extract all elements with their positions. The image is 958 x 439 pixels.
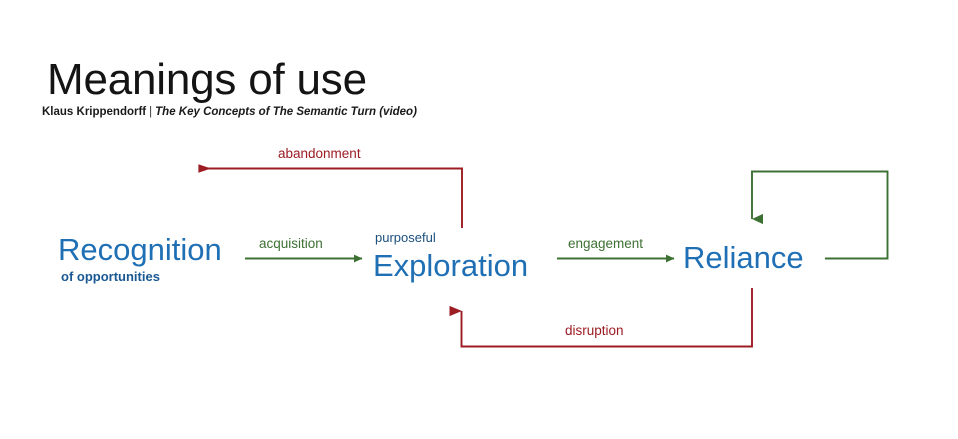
edge-label-acquisition: acquisition: [259, 236, 323, 252]
subtitle-source: The Key Concepts of The Semantic Turn (v…: [155, 106, 417, 118]
edge-label-abandonment: abandonment: [278, 146, 361, 162]
edge-label-engagement: engagement: [568, 236, 643, 252]
diagram-node-exploration: purposeful Exploration: [373, 230, 528, 284]
node-recognition-sublabel: of opportunities: [61, 269, 222, 285]
diagram-node-reliance: Reliance: [683, 240, 804, 276]
page-subtitle: Klaus Krippendorff|The Key Concepts of T…: [42, 105, 417, 119]
subtitle-author: Klaus Krippendorff: [42, 106, 146, 118]
node-exploration-kicker: purposeful: [375, 230, 528, 246]
subtitle-separator: |: [146, 106, 155, 118]
edge-abandonment: [199, 169, 462, 229]
node-reliance-label: Reliance: [683, 240, 804, 276]
node-recognition-label: Recognition: [58, 232, 222, 268]
slide-canvas: Meanings of use Klaus Krippendorff|The K…: [0, 0, 958, 439]
edge-label-disruption: disruption: [565, 323, 624, 339]
page-title: Meanings of use: [47, 55, 367, 105]
node-exploration-label: Exploration: [373, 248, 528, 284]
diagram-node-recognition: Recognition of opportunities: [58, 232, 222, 285]
